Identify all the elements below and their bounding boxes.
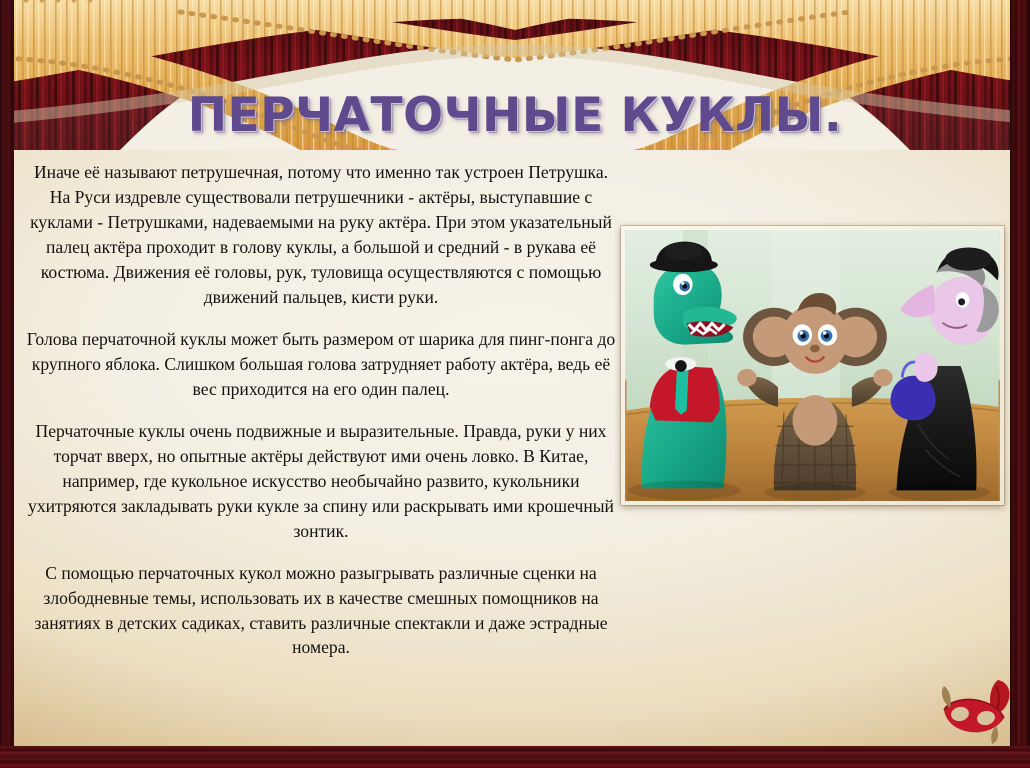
page-title: ПЕРЧАТОЧНЫЕ КУКЛЫ. <box>188 88 842 143</box>
body-text-column: Иначе её называют петрушечная, потому чт… <box>26 160 616 660</box>
puppet-photo-frame <box>621 226 1004 505</box>
slide-canvas: ПЕРЧАТОЧНЫЕ КУКЛЫ. Иначе её называют пет… <box>0 0 1030 768</box>
paragraph-3: Перчаточные куклы очень подвижные и выра… <box>26 419 616 544</box>
carnival-mask-icon <box>938 676 1016 746</box>
paragraph-4: С помощью перчаточных кукол можно разыгр… <box>26 561 616 661</box>
title-container: ПЕРЧАТОЧНЫЕ КУКЛЫ. <box>0 88 1030 143</box>
paragraph-1: Иначе её называют петрушечная, потому чт… <box>26 160 616 310</box>
frame-bottom-edge <box>0 746 1030 768</box>
puppet-photo <box>625 230 1000 501</box>
paragraph-2: Голова перчаточной куклы может быть разм… <box>26 327 616 402</box>
